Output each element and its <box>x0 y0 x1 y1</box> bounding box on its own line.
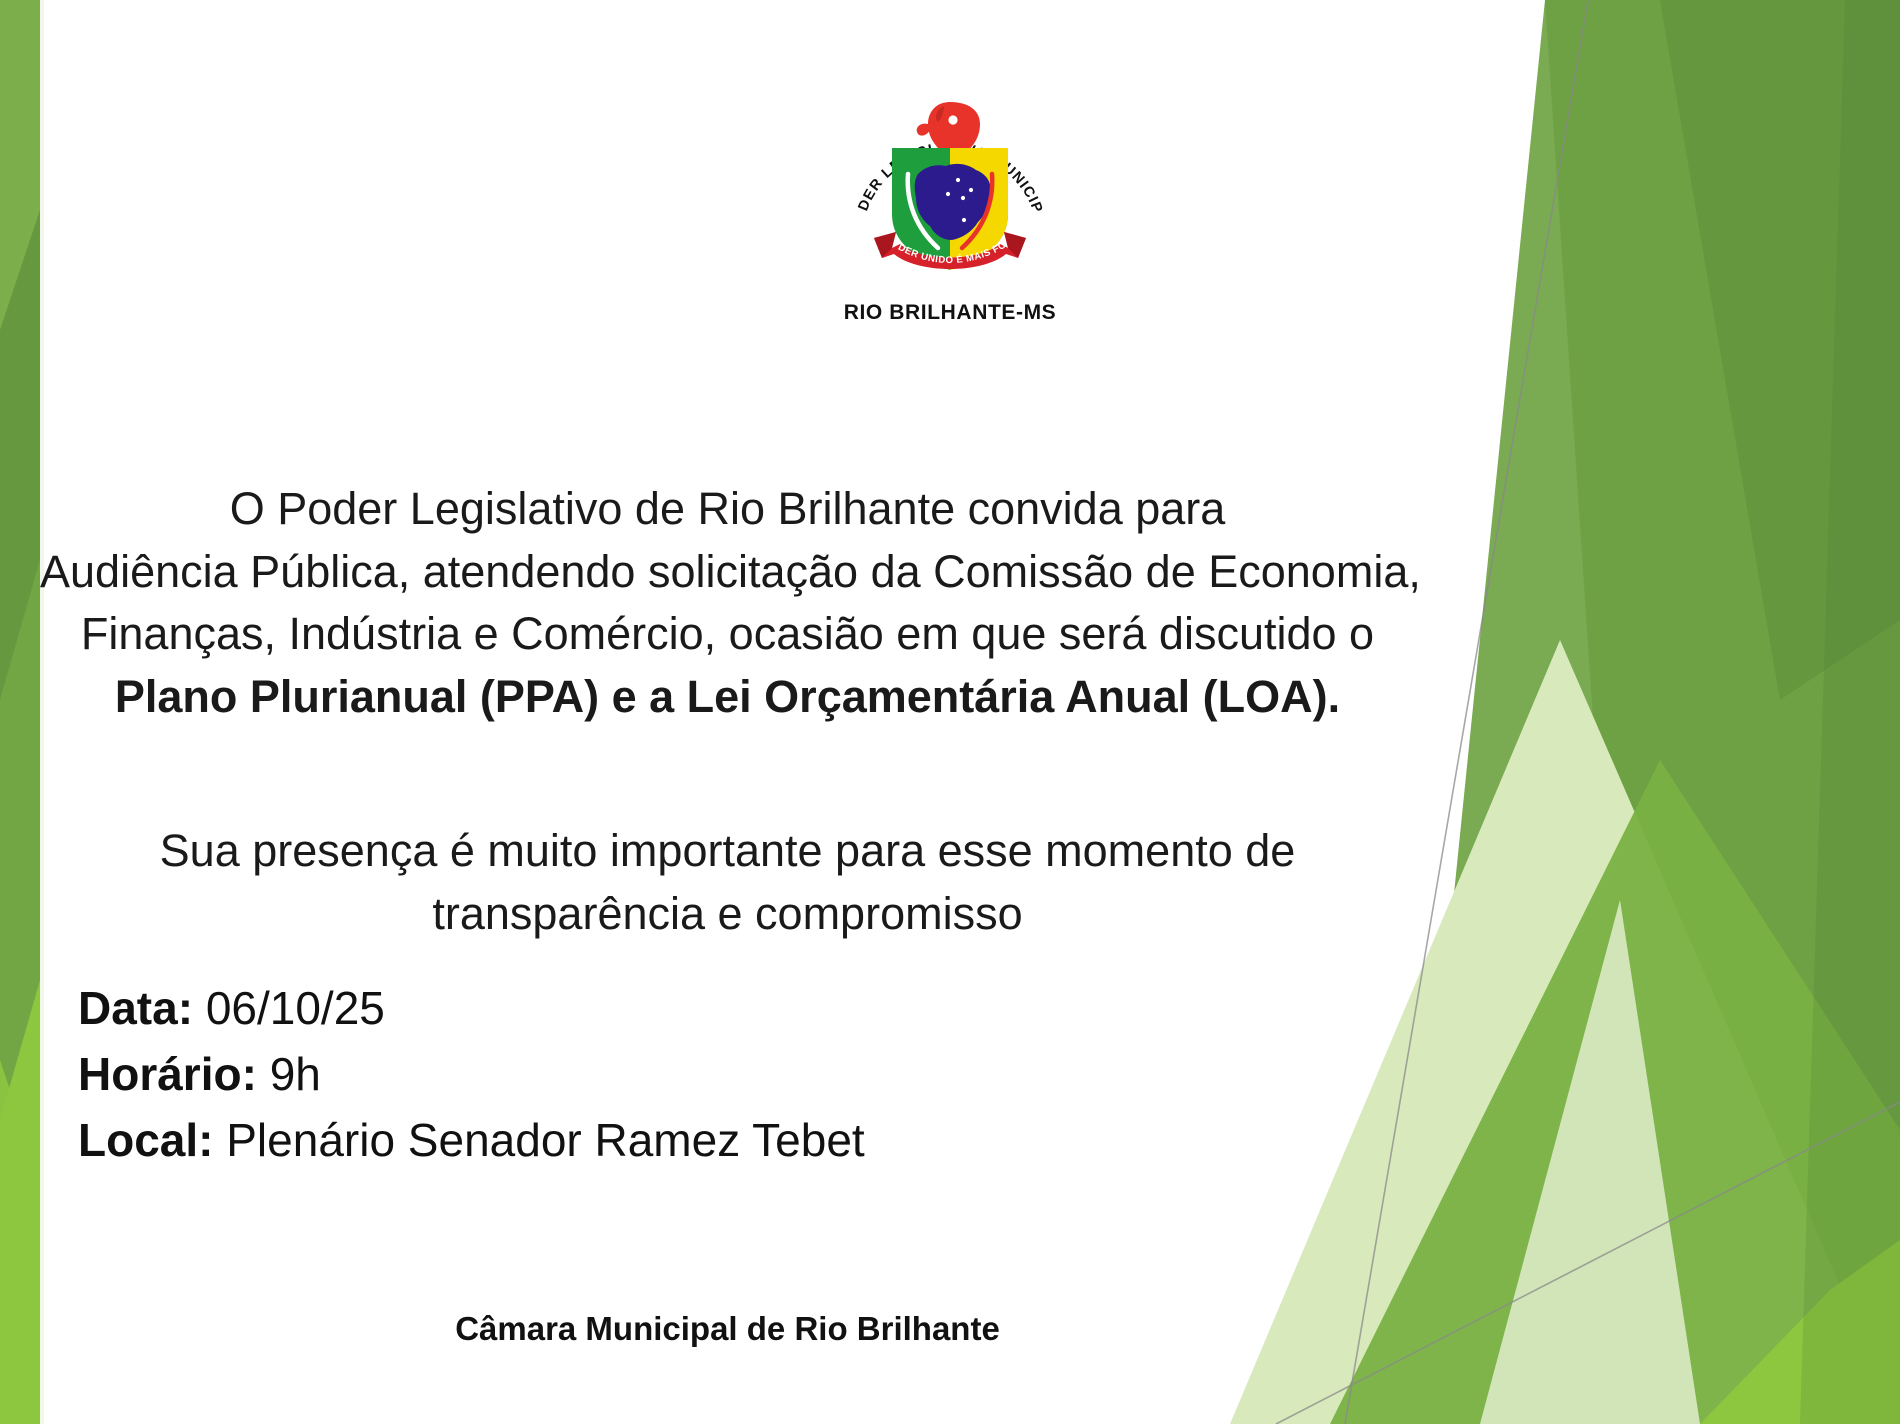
detail-label-horario: Horário: <box>78 1048 257 1100</box>
detail-value-horario: 9h <box>270 1048 321 1100</box>
presence-line-2: transparência e compromisso <box>40 883 1415 946</box>
invite-line-2: Audiência Pública, atendendo solicitação… <box>40 541 1415 604</box>
event-details: Data: 06/10/25 Horário: 9h Local: Plenár… <box>78 975 865 1174</box>
detail-row-local: Local: Plenário Senador Ramez Tebet <box>78 1107 865 1173</box>
logo-block: PODER LEGISLATIVO MUNICIPAL <box>0 62 1900 325</box>
detail-label-local: Local: <box>78 1114 213 1166</box>
detail-row-data: Data: 06/10/25 <box>78 975 865 1041</box>
slide-canvas: PODER LEGISLATIVO MUNICIPAL <box>0 0 1900 1424</box>
invitation-paragraph: O Poder Legislativo de Rio Brilhante con… <box>40 478 1415 728</box>
presence-line-1: Sua presença é muito importante para ess… <box>40 820 1415 883</box>
invite-line-3: Finanças, Indústria e Comércio, ocasião … <box>40 603 1415 666</box>
logo-caption: RIO BRILHANTE-MS <box>0 301 1900 325</box>
coat-of-arms-icon: PODER LEGISLATIVO MUNICIPAL <box>840 62 1060 294</box>
invite-line-4-bold: Plano Plurianual (PPA) e a Lei Orçamentá… <box>40 666 1415 729</box>
detail-label-data: Data: <box>78 982 193 1034</box>
detail-value-local: Plenário Senador Ramez Tebet <box>226 1114 864 1166</box>
detail-value-data: 06/10/25 <box>206 982 385 1034</box>
footer-organization: Câmara Municipal de Rio Brilhante <box>40 1310 1415 1348</box>
presence-paragraph: Sua presença é muito importante para ess… <box>40 820 1415 945</box>
detail-row-horario: Horário: 9h <box>78 1041 865 1107</box>
invite-line-1: O Poder Legislativo de Rio Brilhante con… <box>40 478 1415 541</box>
